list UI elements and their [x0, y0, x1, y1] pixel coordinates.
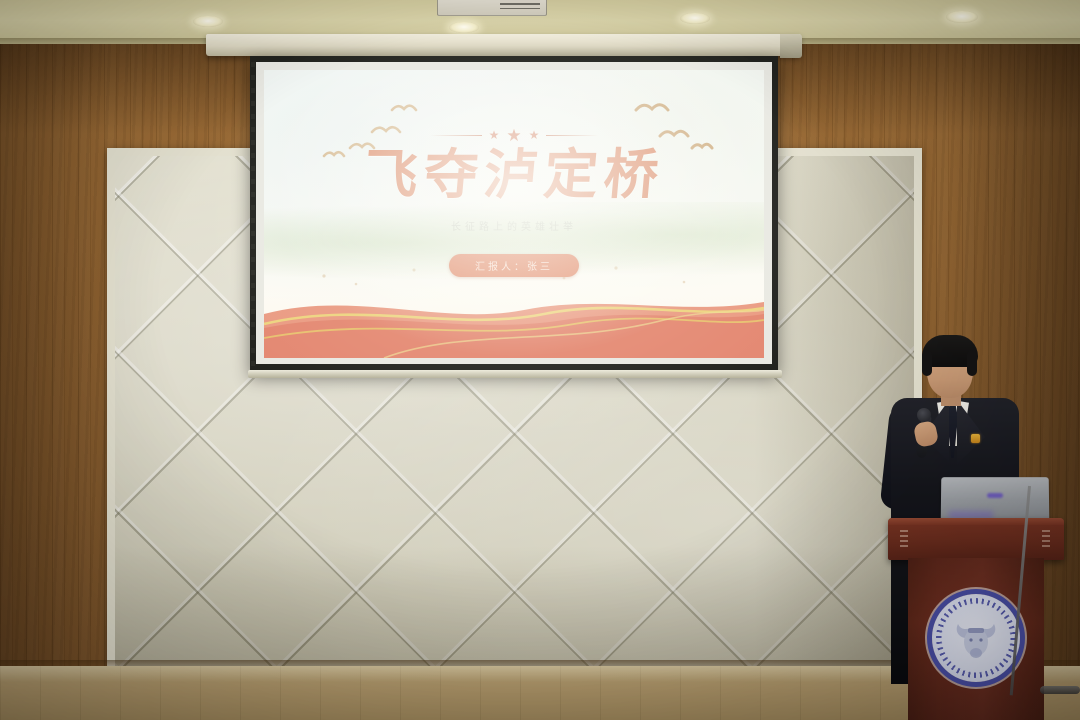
downlight-1	[193, 16, 223, 27]
speaker-hair-right	[967, 350, 977, 376]
podium-body	[908, 558, 1044, 720]
screen-bottom-bar	[248, 370, 782, 378]
star-icon-1: ★	[489, 129, 500, 141]
microphone-head	[917, 408, 931, 422]
slide-title: 飞夺泸定桥	[264, 148, 764, 202]
microphone-stand-base	[1040, 686, 1080, 694]
valance-end-cap	[780, 34, 802, 58]
star-divider: ★ ★ ★	[264, 126, 764, 144]
downlight-3	[680, 13, 710, 24]
podium-side-marking-left	[900, 530, 908, 550]
divider-line-right	[546, 135, 598, 136]
speaker-hair-left	[922, 350, 932, 376]
star-icon-3: ★	[529, 129, 540, 141]
slide-wave-decoration	[264, 280, 764, 358]
downlight-4	[946, 11, 978, 23]
lapel-badge-icon	[971, 434, 980, 443]
ox-head-icon	[950, 614, 1002, 662]
wall-left-shadow	[0, 44, 110, 668]
downlight-2	[449, 22, 479, 33]
podium-top-edge	[888, 518, 1064, 525]
projection-screen: ★ ★ ★ 飞夺泸定桥 长征路上的英雄壮举 汇报人：张三	[250, 56, 778, 372]
podium-top	[888, 518, 1064, 560]
divider-line-left	[430, 135, 482, 136]
podium-side-marking-right	[1042, 530, 1050, 550]
slide-presenter-pill: 汇报人：张三	[449, 254, 579, 277]
laptop-indicator-light	[987, 493, 1003, 498]
projector-icon	[437, 0, 547, 16]
laptop[interactable]	[941, 477, 1050, 521]
slide-subtitle: 长征路上的英雄壮举	[264, 218, 764, 233]
auditorium-scene: ★ ★ ★ 飞夺泸定桥 长征路上的英雄壮举 汇报人：张三	[0, 0, 1080, 720]
projector-grill	[500, 0, 540, 9]
panel-bottom-shading	[115, 546, 914, 666]
star-icon-2: ★	[506, 127, 521, 144]
presentation-slide: ★ ★ ★ 飞夺泸定桥 长征路上的英雄壮举 汇报人：张三	[264, 70, 764, 358]
projection-surface: ★ ★ ★ 飞夺泸定桥 长征路上的英雄壮举 汇报人：张三	[256, 62, 772, 364]
projector-screen-valance	[206, 34, 801, 56]
institution-emblem	[932, 594, 1020, 682]
screen-tensioner-clips	[251, 62, 255, 367]
